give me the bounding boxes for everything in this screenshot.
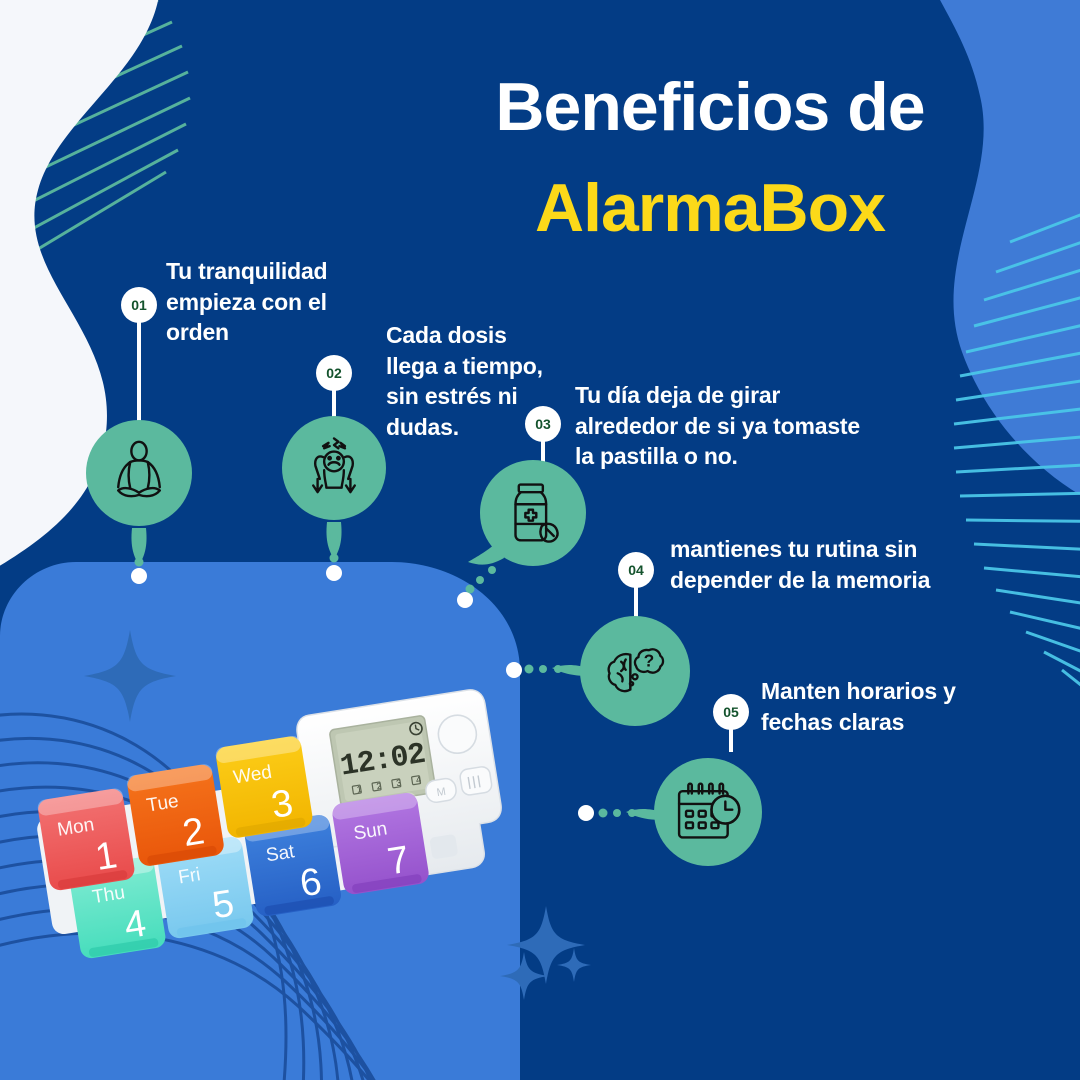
trail-dot bbox=[525, 665, 534, 674]
trail-dot bbox=[330, 532, 338, 540]
benefit-badge-01: 01 bbox=[121, 287, 157, 323]
organizer-button-set bbox=[459, 766, 493, 796]
benefit-icon-02 bbox=[282, 416, 386, 520]
trail-dot bbox=[135, 558, 144, 567]
benefit-number-02: 02 bbox=[326, 365, 342, 381]
benefit-icon-04: ? bbox=[580, 616, 690, 726]
trail-dot bbox=[488, 566, 496, 574]
benefit-number-03: 03 bbox=[535, 416, 551, 432]
compartment-tue: Tue 2 bbox=[126, 763, 225, 867]
svg-text:?: ? bbox=[644, 650, 655, 670]
trail-dot bbox=[613, 809, 621, 817]
benefit-number-04: 04 bbox=[628, 562, 644, 578]
trail-dot bbox=[135, 548, 143, 556]
compartment-sun: Sun 7 bbox=[331, 791, 430, 895]
benefit-badge-05: 05 bbox=[713, 694, 749, 730]
product-pill-organizer: 12:02 1 2 3 4 bbox=[28, 676, 548, 1006]
pill-organizer-illustration: 12:02 1 2 3 4 bbox=[28, 676, 548, 1006]
trail-dot bbox=[599, 809, 608, 818]
infographic-poster: Beneficios de AlarmaBox bbox=[0, 0, 1080, 1080]
svg-text:Fri: Fri bbox=[177, 864, 202, 888]
trail-dot bbox=[466, 585, 475, 594]
benefit-badge-04: 04 bbox=[618, 552, 654, 588]
endpoint-dot bbox=[131, 568, 147, 584]
benefit-badge-02: 02 bbox=[316, 355, 352, 391]
trail-dot bbox=[554, 665, 562, 673]
meditation-lotus-icon bbox=[104, 438, 174, 508]
brain-thought-icon: ? bbox=[598, 634, 672, 708]
pill-bottle-icon bbox=[498, 478, 568, 548]
compartment-mon: Mon 1 bbox=[37, 787, 136, 891]
stressed-person-icon bbox=[299, 433, 369, 503]
endpoint-dot bbox=[578, 805, 594, 821]
trail-dot bbox=[330, 554, 339, 563]
benefit-icon-05 bbox=[654, 758, 762, 866]
svg-text:M: M bbox=[436, 786, 447, 799]
trail-dot bbox=[330, 544, 338, 552]
endpoint-dot bbox=[457, 592, 473, 608]
benefit-number-01: 01 bbox=[131, 297, 147, 313]
benefit-number-05: 05 bbox=[723, 704, 739, 720]
benefit-badge-03: 03 bbox=[525, 406, 561, 442]
benefit-icon-03 bbox=[480, 460, 586, 566]
trail-dot bbox=[135, 536, 143, 544]
endpoint-dot bbox=[326, 565, 342, 581]
trail-dot bbox=[628, 809, 636, 817]
benefit-icon-01 bbox=[86, 420, 192, 526]
calendar-clock-icon bbox=[671, 775, 745, 849]
trail-dot bbox=[539, 665, 547, 673]
compartment-wed: Wed 3 bbox=[215, 735, 314, 839]
trail-dot bbox=[476, 576, 484, 584]
